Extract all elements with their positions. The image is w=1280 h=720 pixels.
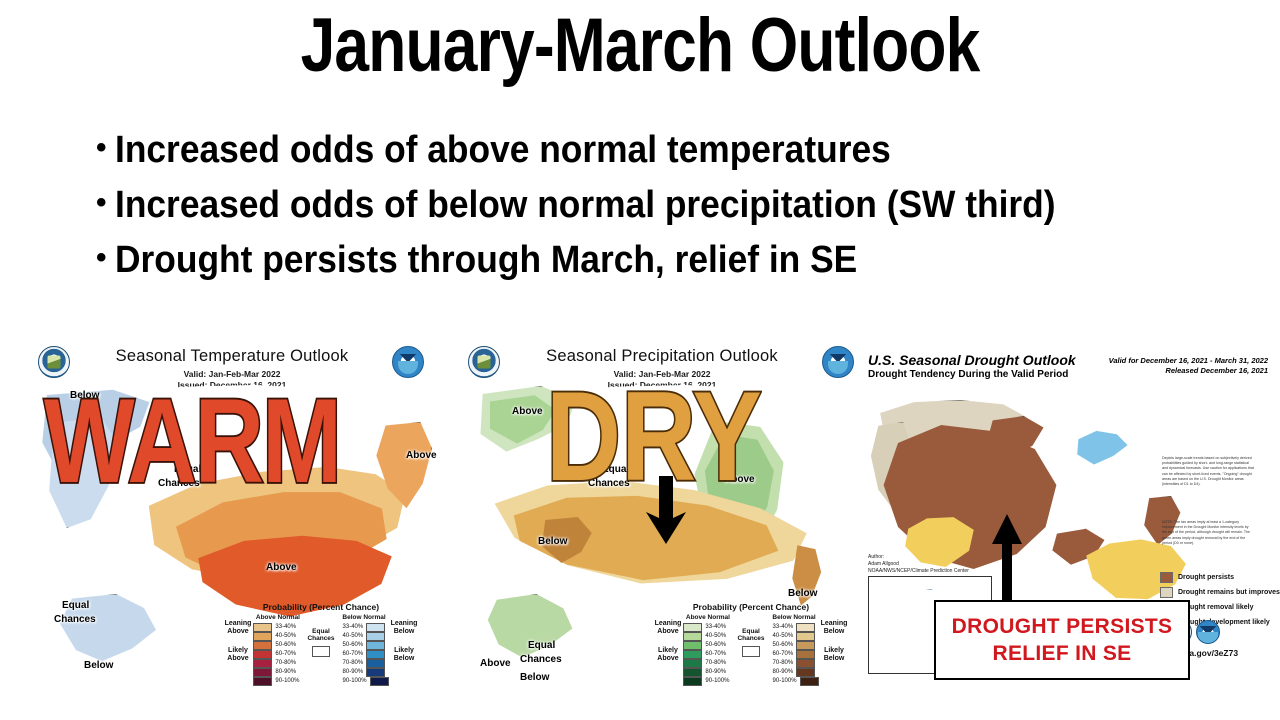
above-normal-column: Above Normal 33-40%40-50%50-60%60-70%70-… xyxy=(683,614,732,686)
page-title: January-March Outlook xyxy=(115,8,1165,84)
legend-row: 50-60% xyxy=(340,641,389,650)
legend-swatch xyxy=(366,659,385,668)
legend-percent-label: 40-50% xyxy=(275,633,296,639)
legend-percent-label: 80-90% xyxy=(773,669,794,675)
likely-below-label: Likely Below xyxy=(391,647,418,662)
temperature-probability-legend: Probability (Percent Chance) Leaning Abo… xyxy=(208,602,434,686)
valid-line: Valid for December 16, 2021 - March 31, … xyxy=(1109,356,1268,366)
slide-root: January-March Outlook • Increased odds o… xyxy=(0,0,1280,720)
legend-title: Probability (Percent Chance) xyxy=(638,602,864,612)
map-label-below: Below xyxy=(788,588,817,599)
list-item: • Increased odds of above normal tempera… xyxy=(96,130,1216,171)
below-normal-header: Below Normal xyxy=(770,614,819,621)
list-item: • Increased odds of below normal precipi… xyxy=(96,185,1216,226)
map-label-equal: Equal xyxy=(62,600,89,611)
legend-row: 80-90% xyxy=(770,668,819,677)
legend-percent-label: 70-80% xyxy=(705,660,726,666)
legend-row: 70-80% xyxy=(683,659,732,668)
alaska-inset: Equal Chances Above Below xyxy=(476,584,606,694)
legend-percent-label: 60-70% xyxy=(705,651,726,657)
legend-swatch xyxy=(800,677,819,686)
legend-row: 60-70% xyxy=(253,650,302,659)
legend-percent-label: 40-50% xyxy=(773,633,794,639)
bullet-text: Increased odds of above normal temperatu… xyxy=(115,130,891,171)
legend-row: 70-80% xyxy=(253,659,302,668)
legend-percent-label: 80-90% xyxy=(343,669,364,675)
equal-chances-key: Equal Chances xyxy=(307,614,334,657)
panel-title: U.S. Seasonal Drought Outlook xyxy=(868,352,1076,368)
legend-row: 60-70% xyxy=(340,650,389,659)
below-normal-column: Below Normal 33-40%40-50%50-60%60-70%70-… xyxy=(770,614,819,686)
equal-chances-swatch xyxy=(742,646,760,657)
legend-swatch xyxy=(253,677,272,686)
leaning-above-label: Leaning Above xyxy=(655,620,682,635)
drought-author: Author: Adam Allgood NOAA/NWS/NCEP/Clima… xyxy=(868,554,969,574)
legend-row: 90-100% xyxy=(340,677,389,686)
leaning-likely-above-labels: Leaning Above Likely Above xyxy=(653,614,684,669)
legend-swatch xyxy=(253,623,272,632)
legend-percent-label: 70-80% xyxy=(275,660,296,666)
legend-row: 80-90% xyxy=(683,668,732,677)
legend-swatch xyxy=(683,677,702,686)
legend-percent-label: 80-90% xyxy=(275,669,296,675)
map-label-chances: Chances xyxy=(54,614,96,625)
alaska-inset: Equal Chances Below xyxy=(46,584,176,694)
legend-percent-label: 90-100% xyxy=(773,678,797,684)
legend-percent-label: 80-90% xyxy=(705,669,726,675)
legend-swatch xyxy=(683,641,702,650)
legend-title: Probability (Percent Chance) xyxy=(208,602,434,612)
legend-percent-label: 90-100% xyxy=(343,678,367,684)
legend-swatch xyxy=(683,632,702,641)
legend-row: 70-80% xyxy=(340,659,389,668)
legend-row: 40-50% xyxy=(683,632,732,641)
equal-chances-key: Equal Chances xyxy=(737,614,764,657)
legend-swatch xyxy=(370,677,389,686)
legend-swatch xyxy=(366,668,385,677)
below-normal-column: Below Normal 33-40%40-50%50-60%60-70%70-… xyxy=(340,614,389,686)
leaning-below-label: Leaning Below xyxy=(821,620,848,635)
legend-percent-label: 50-60% xyxy=(343,642,364,648)
legend-swatch xyxy=(683,668,702,677)
bullet-dot-icon: • xyxy=(96,185,107,220)
legend-swatch xyxy=(366,641,385,650)
callout-line-2: RELIEF IN SE xyxy=(993,640,1132,667)
drought-validity: Valid for December 16, 2021 - March 31, … xyxy=(1109,356,1268,376)
legend-percent-label: 33-40% xyxy=(705,624,726,630)
map-label-below: Below xyxy=(84,660,113,671)
bullet-dot-icon: • xyxy=(96,130,107,165)
legend-percent-label: 60-70% xyxy=(773,651,794,657)
temperature-outlook-panel: Seasonal Temperature Outlook Valid: Jan-… xyxy=(22,338,442,716)
map-label-below: Below xyxy=(70,390,99,401)
legend-row: Drought persists xyxy=(1160,572,1280,583)
legend-swatch xyxy=(796,650,815,659)
legend-percent-label: 40-50% xyxy=(705,633,726,639)
legend-swatch xyxy=(796,668,815,677)
legend-percent-label: 33-40% xyxy=(773,624,794,630)
legend-label: Drought persists xyxy=(1178,574,1234,581)
map-label-above: Above xyxy=(266,562,297,573)
bullet-text: Drought persists through March, relief i… xyxy=(115,240,857,281)
legend-swatch xyxy=(1160,572,1173,583)
author-org: NOAA/NWS/NCEP/Climate Prediction Center xyxy=(868,568,969,575)
leaning-likely-below-labels: Leaning Below Likely Below xyxy=(819,614,850,669)
legend-swatch xyxy=(683,659,702,668)
map-label-chances: Chances xyxy=(158,478,200,489)
legend-swatch xyxy=(253,650,272,659)
map-label-above: Above xyxy=(480,658,511,669)
above-normal-swatches: 33-40%40-50%50-60%60-70%70-80%80-90%90-1… xyxy=(683,623,732,686)
legend-swatch xyxy=(253,641,272,650)
map-label-equal: Equal xyxy=(174,464,201,475)
map-label-below: Below xyxy=(520,672,549,683)
precipitation-outlook-panel: Seasonal Precipitation Outlook Valid: Ja… xyxy=(452,338,872,716)
leaning-below-label: Leaning Below xyxy=(391,620,418,635)
legend-swatch xyxy=(796,659,815,668)
legend-percent-label: 50-60% xyxy=(705,642,726,648)
list-item: • Drought persists through March, relief… xyxy=(96,240,1216,281)
author-label: Author: xyxy=(868,554,969,561)
legend-percent-label: 90-100% xyxy=(275,678,299,684)
legend-swatch xyxy=(253,659,272,668)
noaa-logo-icon xyxy=(1196,620,1220,644)
map-label-chances: Chances xyxy=(520,654,562,665)
legend-swatch xyxy=(796,623,815,632)
legend-row: 33-40% xyxy=(253,623,302,632)
legend-percent-label: 50-60% xyxy=(773,642,794,648)
legend-percent-label: 70-80% xyxy=(773,660,794,666)
precipitation-probability-legend: Probability (Percent Chance) Leaning Abo… xyxy=(638,602,864,686)
legend-row: 80-90% xyxy=(340,668,389,677)
map-label-equal: Equal xyxy=(528,640,555,651)
legend-swatch xyxy=(1160,587,1173,598)
above-normal-header: Above Normal xyxy=(683,614,732,621)
above-normal-header: Above Normal xyxy=(253,614,302,621)
legend-row: 33-40% xyxy=(683,623,732,632)
likely-below-label: Likely Below xyxy=(821,647,848,662)
legend-swatch xyxy=(253,632,272,641)
legend-label: Drought development likely xyxy=(1178,619,1270,626)
legend-row: 80-90% xyxy=(253,668,302,677)
legend-row: 50-60% xyxy=(683,641,732,650)
legend-row: 90-100% xyxy=(770,677,819,686)
leaning-likely-below-labels: Leaning Below Likely Below xyxy=(389,614,420,669)
legend-swatch xyxy=(683,650,702,659)
legend-swatch xyxy=(683,623,702,632)
released-line: Released December 16, 2021 xyxy=(1109,366,1268,376)
legend-row: 90-100% xyxy=(683,677,732,686)
legend-percent-label: 40-50% xyxy=(343,633,364,639)
legend-swatch xyxy=(796,632,815,641)
legend-row: Drought remains but improves xyxy=(1160,587,1280,598)
panel-title: Seasonal Precipitation Outlook xyxy=(452,347,872,366)
bullet-dot-icon: • xyxy=(96,240,107,275)
legend-swatch xyxy=(366,623,385,632)
legend-row: 50-60% xyxy=(253,641,302,650)
map-label-above: Above xyxy=(724,474,755,485)
below-normal-swatches: 33-40%40-50%50-60%60-70%70-80%80-90%90-1… xyxy=(770,623,819,686)
above-normal-swatches: 33-40%40-50%50-60%60-70%70-80%80-90%90-1… xyxy=(253,623,302,686)
panel-subtitle: Drought Tendency During the Valid Period xyxy=(868,369,1076,380)
map-label-chances: Chances xyxy=(588,478,630,489)
leaning-likely-above-labels: Leaning Above Likely Above xyxy=(223,614,254,669)
legend-swatch xyxy=(366,632,385,641)
legend-percent-label: 60-70% xyxy=(343,651,364,657)
legend-row: 33-40% xyxy=(340,623,389,632)
legend-row: 90-100% xyxy=(253,677,302,686)
below-normal-header: Below Normal xyxy=(340,614,389,621)
author-name: Adam Allgood xyxy=(868,561,969,568)
legend-percent-label: 70-80% xyxy=(343,660,364,666)
legend-row: 33-40% xyxy=(770,623,819,632)
legend-percent-label: 90-100% xyxy=(705,678,729,684)
bullet-list: • Increased odds of above normal tempera… xyxy=(96,130,1216,295)
legend-row: 50-60% xyxy=(770,641,819,650)
likely-above-label: Likely Above xyxy=(225,647,252,662)
legend-row: 40-50% xyxy=(770,632,819,641)
map-label-above: Above xyxy=(512,406,543,417)
legend-percent-label: 60-70% xyxy=(275,651,296,657)
equal-chances-swatch xyxy=(312,646,330,657)
drought-note-2: NOTE: The tan areas imply at least a 1-c… xyxy=(1162,520,1254,546)
legend-row: 60-70% xyxy=(683,650,732,659)
map-label-equal: Equal xyxy=(602,464,629,475)
bullet-text: Increased odds of below normal precipita… xyxy=(115,185,1056,226)
legend-label: Drought remains but improves xyxy=(1178,589,1280,596)
legend-percent-label: 50-60% xyxy=(275,642,296,648)
legend-row: 40-50% xyxy=(253,632,302,641)
below-normal-swatches: 33-40%40-50%50-60%60-70%70-80%80-90%90-1… xyxy=(340,623,389,686)
map-label-above: Above xyxy=(406,450,437,461)
legend-swatch xyxy=(796,641,815,650)
drought-note-1: Depicts large-scale trends based on subj… xyxy=(1162,456,1254,487)
map-label-below: Below xyxy=(538,536,567,547)
above-normal-column: Above Normal 33-40%40-50%50-60%60-70%70-… xyxy=(253,614,302,686)
legend-row: 40-50% xyxy=(340,632,389,641)
legend-percent-label: 33-40% xyxy=(275,624,296,630)
legend-swatch xyxy=(253,668,272,677)
drought-callout-box: DROUGHT PERSISTS RELIEF IN SE xyxy=(934,600,1190,680)
legend-percent-label: 33-40% xyxy=(343,624,364,630)
callout-line-1: DROUGHT PERSISTS xyxy=(952,613,1173,640)
legend-swatch xyxy=(366,650,385,659)
leaning-above-label: Leaning Above xyxy=(225,620,252,635)
drought-header: U.S. Seasonal Drought Outlook Drought Te… xyxy=(868,352,1076,380)
legend-row: 70-80% xyxy=(770,659,819,668)
legend-row: 60-70% xyxy=(770,650,819,659)
panel-title: Seasonal Temperature Outlook xyxy=(22,347,442,366)
likely-above-label: Likely Above xyxy=(655,647,682,662)
